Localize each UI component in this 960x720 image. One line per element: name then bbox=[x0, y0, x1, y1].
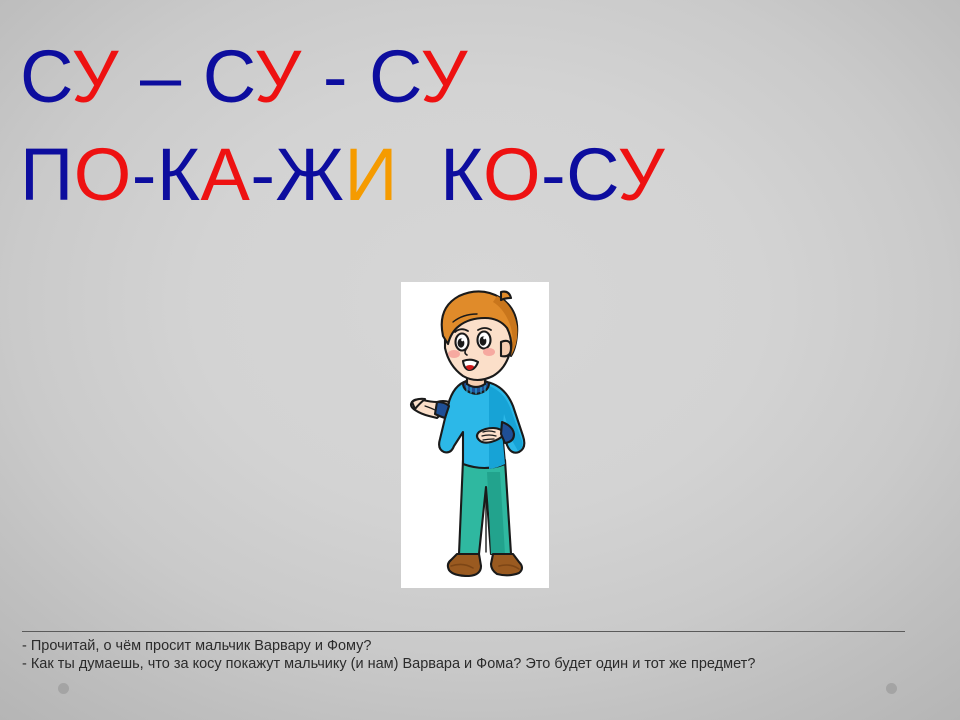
headline-segment: О bbox=[74, 133, 132, 216]
headline-segment: К bbox=[157, 133, 201, 216]
headline-segment bbox=[398, 133, 440, 216]
boy-pointing-svg bbox=[401, 282, 549, 588]
headline-segment: – bbox=[119, 35, 203, 118]
headline-segment: - bbox=[132, 133, 157, 216]
hair-tuft bbox=[501, 292, 511, 300]
headline-line-1: СУ – СУ - СУ bbox=[20, 28, 940, 126]
caption-divider bbox=[22, 631, 905, 632]
caption-line-2: - Как ты думаешь, что за косу покажут ма… bbox=[22, 655, 942, 673]
headline-segment: К bbox=[440, 133, 483, 216]
caption-block: - Прочитай, о чём просит мальчик Варвару… bbox=[22, 637, 942, 673]
headline-segment: С bbox=[203, 35, 254, 118]
cheek-right bbox=[483, 348, 495, 356]
decorative-dot-left bbox=[58, 683, 69, 694]
headline-block: СУ – СУ - СУ ПО-КА-ЖИ КО-СУ bbox=[20, 28, 940, 223]
eye-glint-left bbox=[461, 339, 464, 342]
headline-segment: - bbox=[250, 133, 275, 216]
headline-segment: А bbox=[201, 133, 251, 216]
headline-segment: У bbox=[254, 35, 302, 118]
headline-segment: С bbox=[566, 133, 617, 216]
headline-segment: - bbox=[541, 133, 566, 216]
decorative-dot-right bbox=[886, 683, 897, 694]
cuff-left bbox=[435, 402, 449, 418]
slide-canvas: СУ – СУ - СУ ПО-КА-ЖИ КО-СУ bbox=[0, 0, 960, 720]
headline-segment: П bbox=[20, 133, 74, 216]
headline-segment: У bbox=[618, 133, 666, 216]
headline-segment: Ж bbox=[276, 133, 345, 216]
headline-segment: У bbox=[71, 35, 119, 118]
headline-segment: - bbox=[302, 35, 369, 118]
headline-line-2: ПО-КА-ЖИ КО-СУ bbox=[20, 126, 940, 224]
cheek-left bbox=[448, 350, 460, 358]
headline-segment: С bbox=[20, 35, 71, 118]
eye-glint-right bbox=[483, 337, 486, 340]
headline-segment: С bbox=[369, 35, 420, 118]
boy-pointing-illustration bbox=[401, 282, 549, 588]
caption-line-1: - Прочитай, о чём просит мальчик Варвару… bbox=[22, 637, 942, 655]
headline-segment: И bbox=[344, 133, 398, 216]
headline-segment: О bbox=[483, 133, 541, 216]
headline-segment: У bbox=[421, 35, 469, 118]
ear bbox=[501, 341, 511, 356]
